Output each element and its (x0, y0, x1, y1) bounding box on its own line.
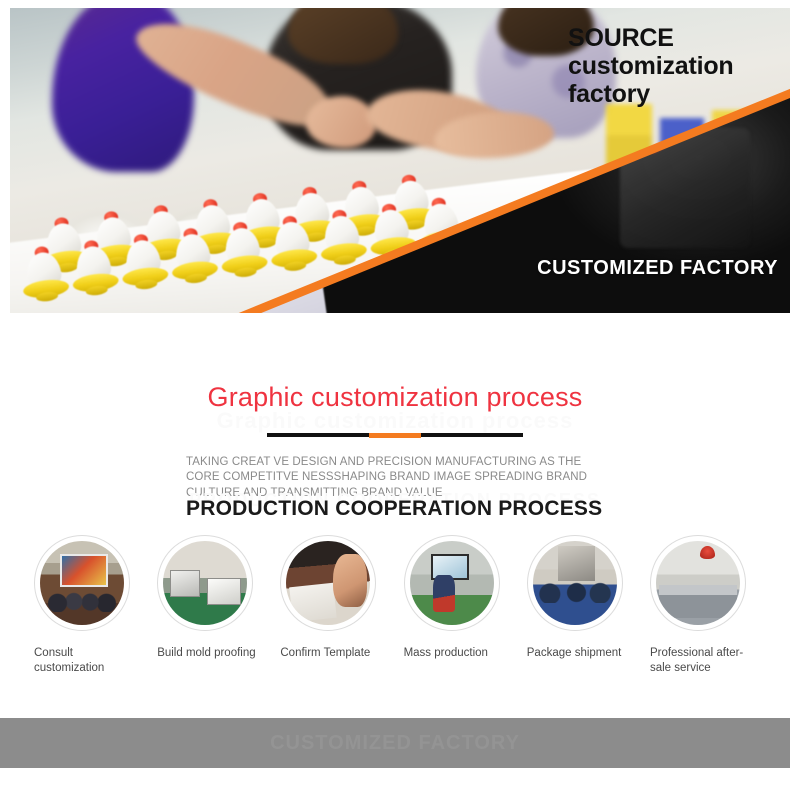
step-circle (280, 535, 376, 631)
footer-bar: CUSTOMIZED FACTORY (0, 718, 790, 768)
step-circle (527, 535, 623, 631)
template-inspection-photo (286, 541, 370, 625)
step-label: Package shipment (527, 646, 637, 661)
process-heading: PRODUCTION COOPERATION PROCESS (186, 497, 602, 521)
process-section: Graphic customization process Graphic cu… (0, 330, 790, 437)
mold-workstation-photo (163, 541, 247, 625)
banner-title: SOURCE customization factory (568, 24, 778, 108)
process-step-template[interactable]: Confirm Template (280, 535, 390, 676)
step-circle (157, 535, 253, 631)
section-blurb: TAKING CREAT VE DESIGN AND PRECISION MAN… (186, 455, 610, 501)
banner-subtitle: CUSTOMIZED FACTORY (537, 257, 778, 280)
process-step-package[interactable]: Package shipment (527, 535, 637, 676)
worker-hand (306, 96, 376, 148)
process-steps-row: Consult customization Build mold proofin… (34, 535, 760, 676)
process-step-after-sale[interactable]: Professional after-sale service (650, 535, 760, 676)
process-step-consult[interactable]: Consult customization (34, 535, 144, 676)
process-step-mold[interactable]: Build mold proofing (157, 535, 267, 676)
process-step-mass-production[interactable]: Mass production (404, 535, 514, 676)
step-circle (34, 535, 130, 631)
hero-banner: SOURCE customization factory CUSTOMIZED … (10, 8, 790, 313)
worker-hair (288, 8, 398, 64)
consult-meeting-photo (40, 541, 124, 625)
step-circle (404, 535, 500, 631)
section-title: Graphic customization process (0, 382, 790, 413)
step-circle (650, 535, 746, 631)
step-label: Consult customization (34, 646, 144, 676)
step-label: Confirm Template (280, 646, 390, 661)
production-line-photo (410, 541, 494, 625)
footer-text: CUSTOMIZED FACTORY (270, 732, 520, 755)
step-label: Mass production (404, 646, 514, 661)
packing-station-photo (533, 541, 617, 625)
step-label: Build mold proofing (157, 646, 267, 661)
office-service-photo (656, 541, 740, 625)
step-label: Professional after-sale service (650, 646, 760, 676)
title-divider-rule (267, 433, 523, 437)
